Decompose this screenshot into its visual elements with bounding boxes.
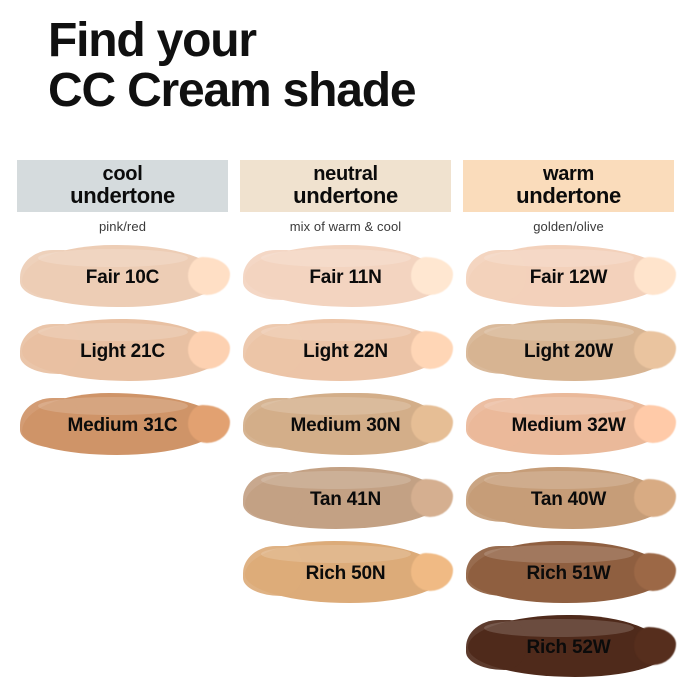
shade-swatch-list-warm: Fair 12WLight 20WMedium 32WTan 40WRich 5… xyxy=(463,239,674,683)
page-title: Find your CC Cream shade xyxy=(48,16,648,116)
banner-line-1: warm xyxy=(543,164,594,185)
shade-swatch[interactable]: Tan 41N xyxy=(243,461,448,535)
banner-line-2: undertone xyxy=(293,185,398,208)
shade-swatch[interactable]: Light 20W xyxy=(466,313,671,387)
shade-name-label: Medium 32W xyxy=(511,415,625,437)
shade-name-label: Light 21C xyxy=(80,341,165,363)
shade-swatch[interactable]: Fair 10C xyxy=(20,239,225,313)
shade-name-label: Fair 10C xyxy=(86,267,159,289)
banner-line-1: neutral xyxy=(313,164,378,185)
shade-swatch[interactable]: Medium 30N xyxy=(243,387,448,461)
shade-name-label: Rich 52W xyxy=(527,637,611,659)
shade-swatch[interactable]: Fair 12W xyxy=(466,239,671,313)
shade-swatch[interactable]: Tan 40W xyxy=(466,461,671,535)
shade-name-label: Medium 31C xyxy=(68,415,178,437)
shade-name-label: Rich 50N xyxy=(306,563,386,585)
shade-swatch[interactable]: Light 21C xyxy=(20,313,225,387)
undertone-description-warm: golden/olive xyxy=(533,219,604,237)
shade-name-label: Light 22N xyxy=(303,341,388,363)
banner-line-1: cool xyxy=(103,164,143,185)
shade-swatch[interactable]: Rich 51W xyxy=(466,535,671,609)
shade-name-label: Light 20W xyxy=(524,341,613,363)
shade-name-label: Tan 41N xyxy=(310,489,381,511)
undertone-column-neutral: neutralundertonemix of warm & coolFair 1… xyxy=(235,160,456,609)
undertone-banner-neutral: neutralundertone xyxy=(240,160,451,212)
undertone-columns: coolundertonepink/redFair 10CLight 21CMe… xyxy=(0,160,679,679)
undertone-description-cool: pink/red xyxy=(99,219,146,237)
shade-name-label: Fair 11N xyxy=(309,267,381,289)
shade-name-label: Rich 51W xyxy=(527,563,611,585)
banner-line-2: undertone xyxy=(516,185,621,208)
shade-name-label: Fair 12W xyxy=(530,267,608,289)
shade-swatch[interactable]: Medium 31C xyxy=(20,387,225,461)
shade-name-label: Medium 30N xyxy=(291,415,401,437)
undertone-column-warm: warmundertonegolden/oliveFair 12WLight 2… xyxy=(458,160,679,683)
shade-swatch-list-neutral: Fair 11NLight 22NMedium 30NTan 41NRich 5… xyxy=(240,239,451,609)
shade-swatch[interactable]: Fair 11N xyxy=(243,239,448,313)
banner-line-2: undertone xyxy=(70,185,175,208)
shade-swatch[interactable]: Medium 32W xyxy=(466,387,671,461)
undertone-banner-cool: coolundertone xyxy=(17,160,228,212)
undertone-description-neutral: mix of warm & cool xyxy=(290,219,402,237)
shade-swatch[interactable]: Rich 50N xyxy=(243,535,448,609)
shade-swatch[interactable]: Light 22N xyxy=(243,313,448,387)
shade-swatch[interactable]: Rich 52W xyxy=(466,609,671,683)
undertone-column-cool: coolundertonepink/redFair 10CLight 21CMe… xyxy=(12,160,233,461)
shade-swatch-list-cool: Fair 10CLight 21CMedium 31C xyxy=(17,239,228,461)
undertone-banner-warm: warmundertone xyxy=(463,160,674,212)
shade-name-label: Tan 40W xyxy=(531,489,606,511)
